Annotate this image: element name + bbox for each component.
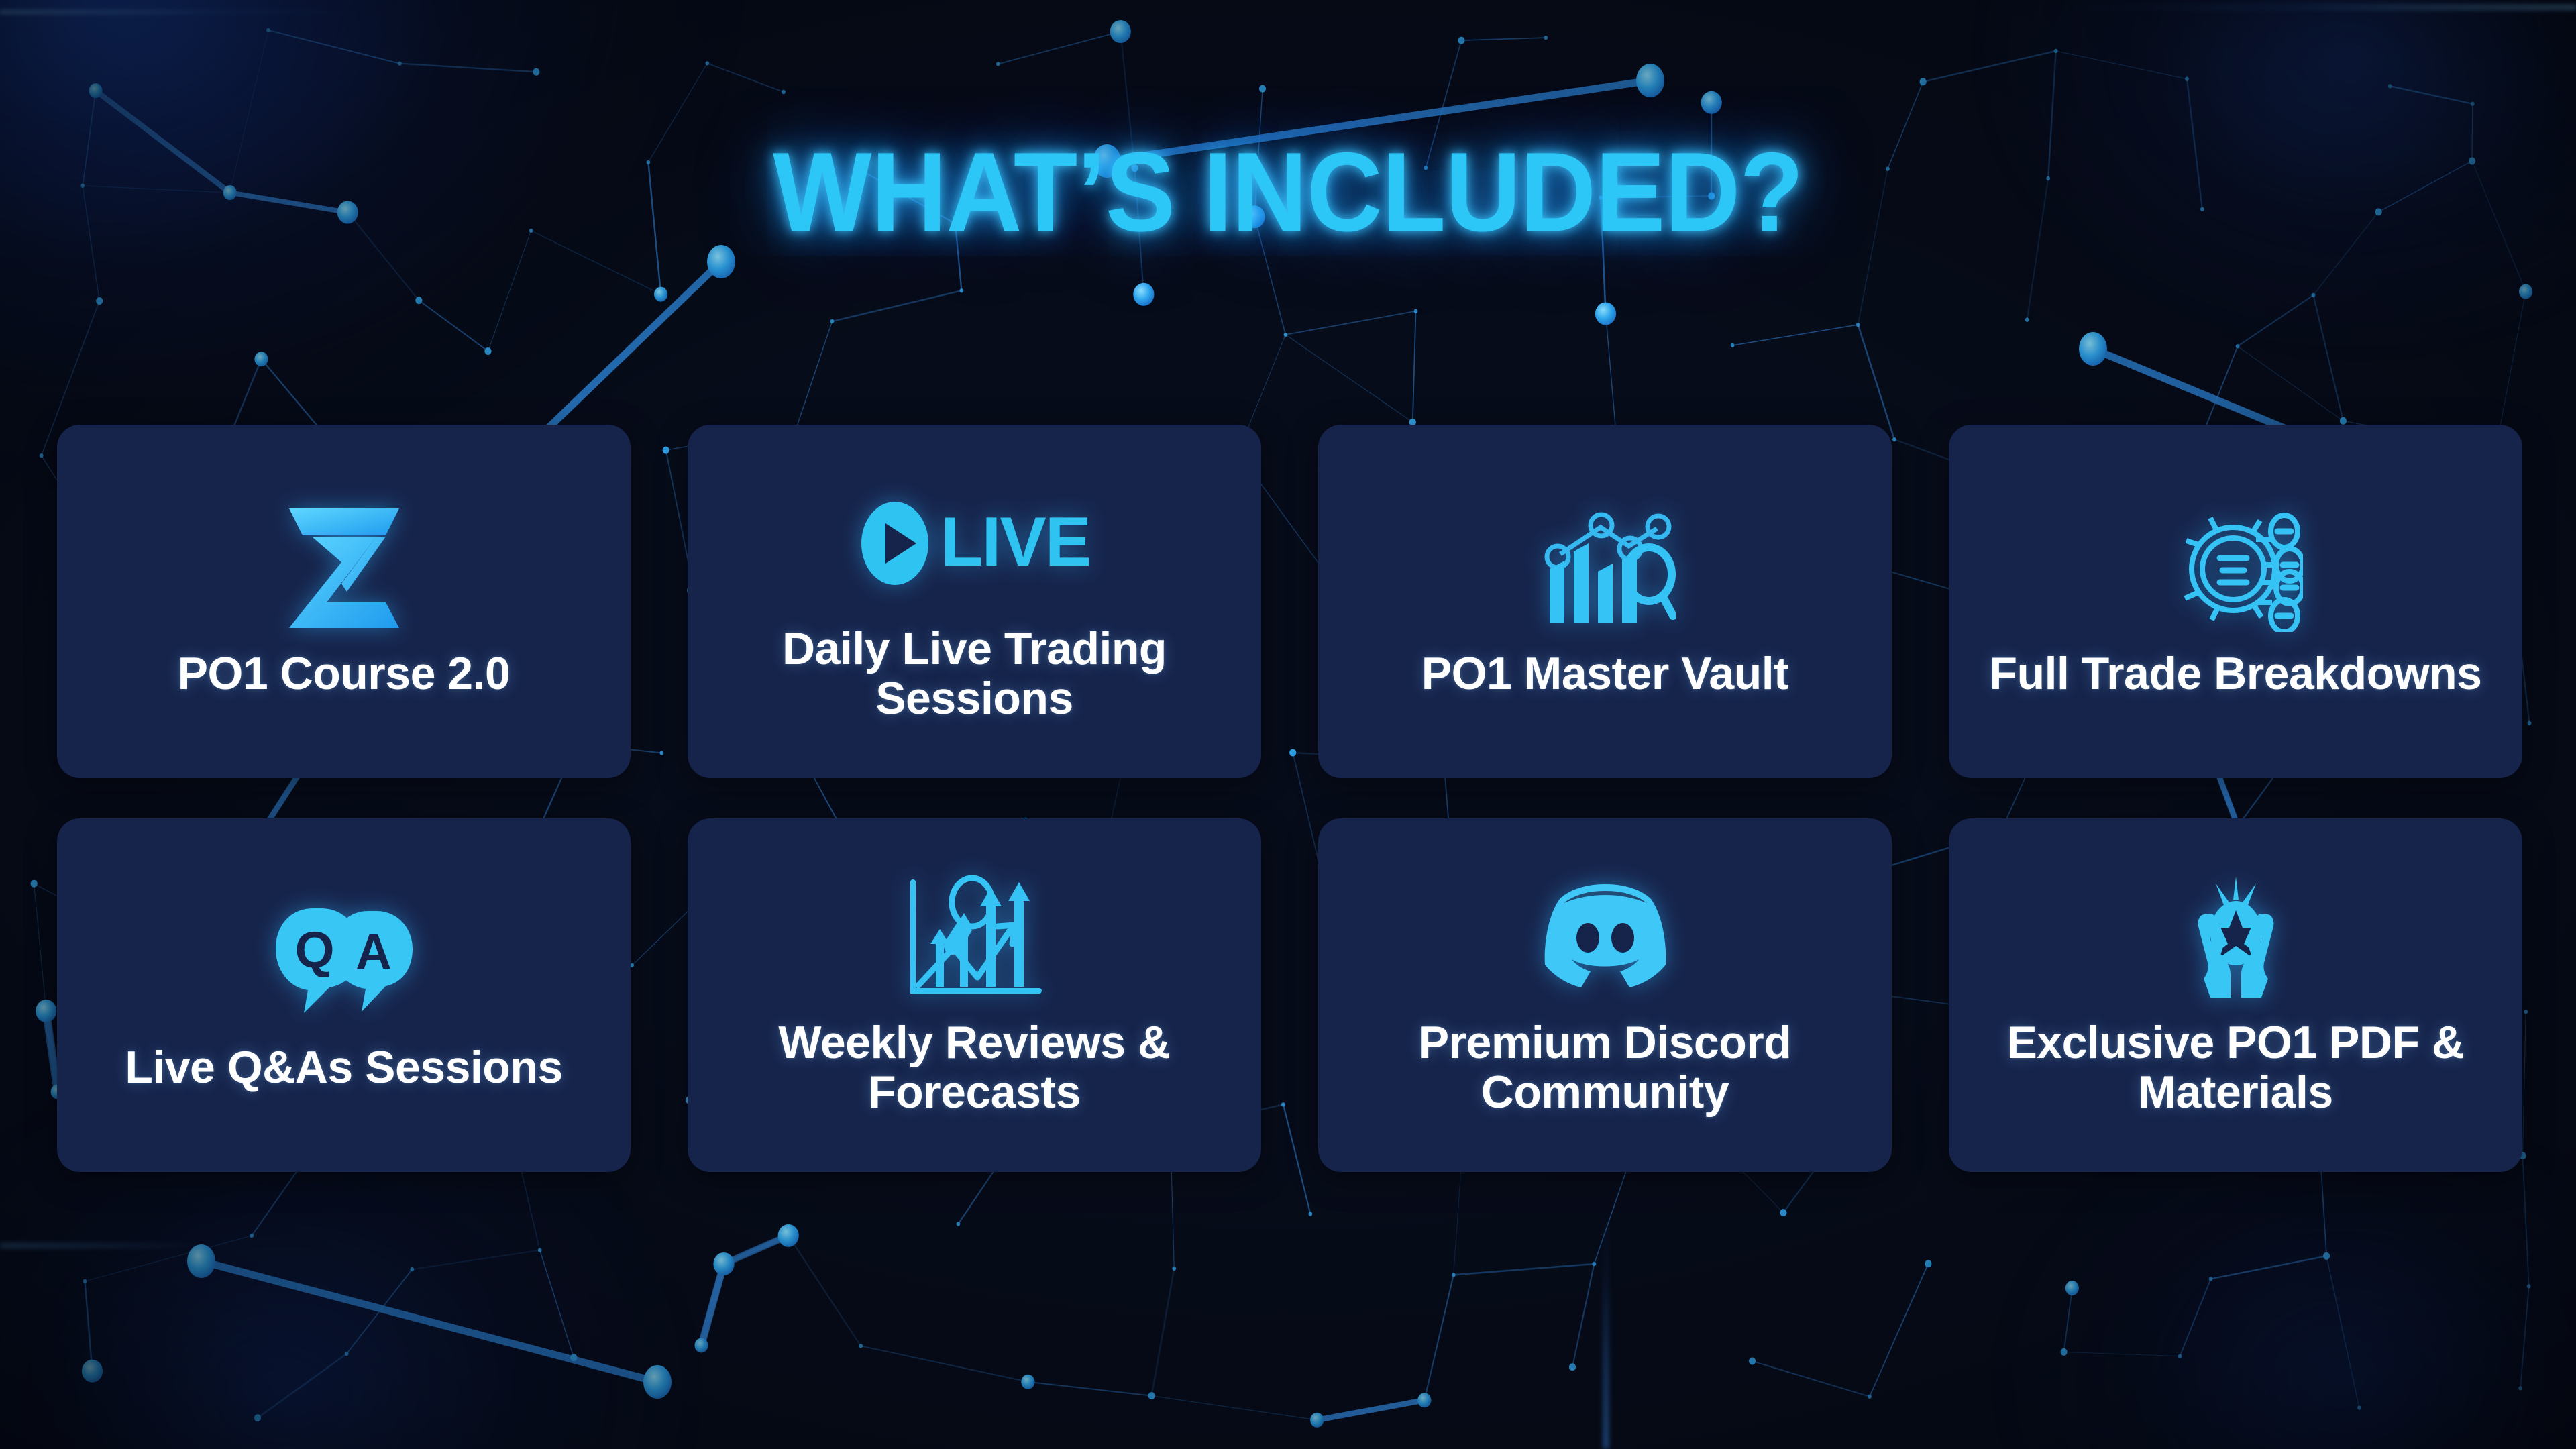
hands-holding-star-icon [2169,873,2303,1001]
feature-card-po1-master-vault[interactable]: PO1 Master Vault [1318,425,1892,778]
feature-card-daily-live-trading[interactable]: LIVE Daily Live Trading Sessions [688,425,1261,778]
qa-speech-bubbles-icon: Q A [273,898,415,1026]
feature-label: PO1 Course 2.0 [159,649,529,698]
feature-label: Exclusive PO1 PDF & Materials [1962,1018,2510,1117]
feature-label: Live Q&As Sessions [106,1043,581,1092]
feature-card-full-trade-breakdowns[interactable]: Full Trade Breakdowns [1949,425,2522,778]
growth-chart-arrows-magnifier-icon [904,873,1046,1001]
feature-label: PO1 Master Vault [1403,649,1808,698]
feature-card-premium-discord-community[interactable]: Premium Discord Community [1318,818,1892,1172]
feature-label: Premium Discord Community [1332,1018,1879,1117]
discord-logo-icon [1540,873,1671,1001]
poster-stage: WHAT’S INCLUDED? [0,0,2576,1449]
feature-label: Daily Live Trading Sessions [701,625,1248,723]
bar-chart-magnifier-icon [1535,504,1676,632]
features-grid: PO1 Course 2.0 LIVE Daily Live Trading S… [57,425,2519,1172]
page-title: WHAT’S INCLUDED? [90,127,2485,257]
feature-card-exclusive-pdf-materials[interactable]: Exclusive PO1 PDF & Materials [1949,818,2522,1172]
poster-content: WHAT’S INCLUDED? [0,0,2576,1449]
live-badge-text: LIVE [941,507,1090,577]
live-play-badge-icon: LIVE [859,480,1090,607]
gear-network-nodes-icon [2169,504,2303,632]
feature-label: Weekly Reviews & Forecasts [701,1018,1248,1117]
feature-card-live-qa-sessions[interactable]: Q A Live Q&As Sessions [57,818,631,1172]
feature-card-po1-course[interactable]: PO1 Course 2.0 [57,425,631,778]
feature-label: Full Trade Breakdowns [1971,649,2501,698]
svg-text:Q: Q [294,922,334,979]
sigma-hourglass-logo-icon [285,504,403,632]
play-button-icon [859,500,931,586]
feature-card-weekly-reviews-forecasts[interactable]: Weekly Reviews & Forecasts [688,818,1261,1172]
svg-text:A: A [356,924,391,979]
